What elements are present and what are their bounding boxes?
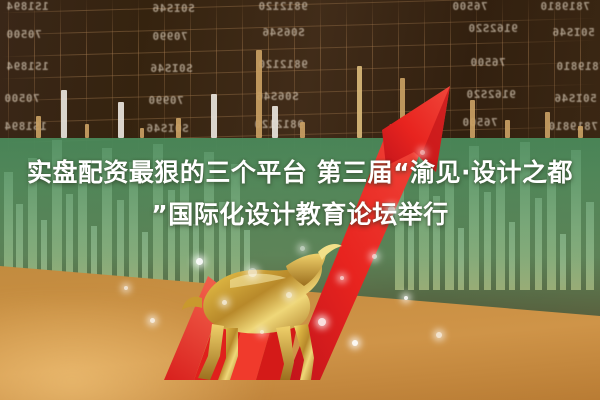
bokeh-dot — [372, 254, 377, 259]
bokeh-dot — [196, 258, 203, 265]
bokeh-dot — [150, 318, 155, 323]
page-title: 实盘配资最狠的三个平台 第三届“渝见·设计之都 ”国际化设计教育论坛举行 — [0, 152, 600, 236]
bokeh-dot — [436, 332, 442, 338]
bokeh-dot — [340, 276, 344, 280]
news-banner: 1S1894S0IS469812120765007819810705007099… — [0, 0, 600, 400]
bokeh-dot — [404, 296, 408, 300]
bokeh-dot — [248, 268, 257, 277]
bokeh-dot — [222, 300, 227, 305]
bokeh-dot — [352, 340, 358, 346]
bokeh-dot — [300, 246, 305, 251]
bokeh-dot — [318, 318, 326, 326]
bokeh-dot — [286, 292, 292, 298]
bokeh-dot — [124, 286, 128, 290]
bokeh-dot — [260, 330, 264, 334]
